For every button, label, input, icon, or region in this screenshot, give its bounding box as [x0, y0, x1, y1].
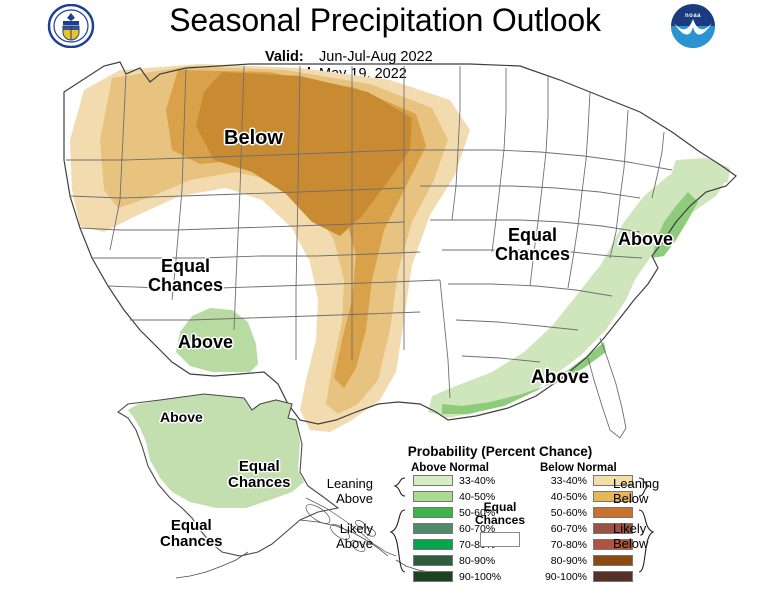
map-label-above-southwest: Above [178, 333, 233, 352]
map-label-equal-chances-west: EqualChances [148, 257, 223, 295]
map-label-above-southeast: Above [531, 368, 589, 388]
map-label-alaska-equal-chances-interior: EqualChances [228, 459, 291, 491]
legend-brackets [343, 468, 703, 592]
outlook-map-page: Seasonal Precipitation Outlook Valid:Jun… [0, 0, 768, 593]
map-label-above-northeast: Above [618, 230, 673, 249]
map-label-below: Below [224, 128, 283, 149]
map-label-alaska-above: Above [160, 410, 203, 425]
map-label-equal-chances-east: EqualChances [495, 226, 570, 264]
alaska-above-33-40 [128, 394, 304, 508]
legend: Probability (Percent Chance) Above Norma… [345, 444, 655, 592]
legend-title: Probability (Percent Chance) [345, 444, 655, 459]
map-label-alaska-equal-chances-south: EqualChances [160, 518, 223, 550]
